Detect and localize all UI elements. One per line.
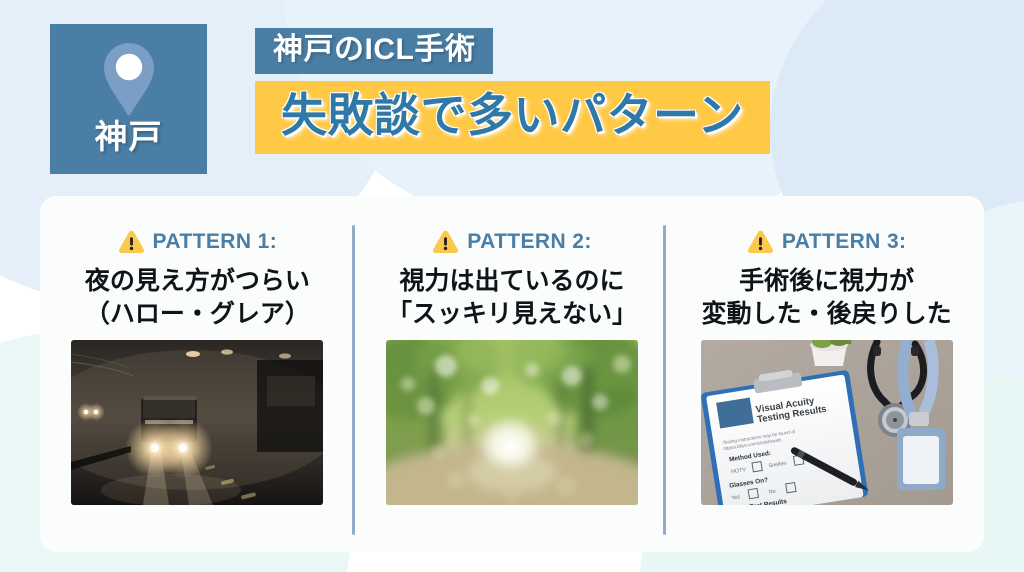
warning-triangle-icon: [118, 229, 145, 254]
pattern-2-heading: PATTERN 2:: [432, 226, 592, 256]
location-badge: 神戸: [50, 24, 207, 174]
pattern-column-1: PATTERN 1: 夜の見え方がつらい （ハロー・グレア）: [40, 196, 355, 552]
page-title: 失敗談で多いパターン: [255, 81, 770, 155]
visual-acuity-test-clipboard-photo: Visual Acuity Testing Results Testing in…: [701, 340, 953, 505]
subtitle-badge: 神戸のICL手術: [255, 28, 493, 74]
night-fog-road-headlights-photo: [71, 340, 323, 505]
infographic-canvas: 神戸 神戸のICL手術 失敗談で多いパターン PATTERN 1: 夜の見え方が…: [0, 0, 1024, 572]
location-badge-label: 神戸: [95, 120, 163, 153]
pattern-2-label: PATTERN 2:: [467, 231, 592, 252]
warning-triangle-icon: [432, 229, 459, 254]
pattern-2-title: 視力は出ているのに 「スッキリ見えない」: [387, 265, 637, 330]
pattern-3-title: 手術後に視力が 変動した・後戻りした: [702, 265, 952, 330]
pattern-column-2: PATTERN 2: 視力は出ているのに 「スッキリ見えない」: [355, 196, 670, 552]
pattern-1-title: 夜の見え方がつらい （ハロー・グレア）: [85, 265, 310, 330]
header-title-group: 神戸のICL手術 失敗談で多いパターン: [255, 28, 770, 154]
pattern-column-3: PATTERN 3: 手術後に視力が 変動した・後戻りした: [669, 196, 984, 552]
pattern-1-heading: PATTERN 1:: [118, 226, 278, 256]
svg-text:No: No: [768, 489, 776, 496]
warning-triangle-icon: [747, 229, 774, 254]
pattern-3-heading: PATTERN 3:: [747, 226, 907, 256]
pattern-1-label: PATTERN 1:: [153, 231, 278, 252]
pattern-3-label: PATTERN 3:: [782, 231, 907, 252]
patterns-card: PATTERN 1: 夜の見え方がつらい （ハロー・グレア）: [40, 196, 984, 552]
map-pin-icon: [100, 41, 158, 117]
blurred-forest-path-photo: [386, 340, 638, 505]
patterns-columns: PATTERN 1: 夜の見え方がつらい （ハロー・グレア）: [40, 196, 984, 552]
